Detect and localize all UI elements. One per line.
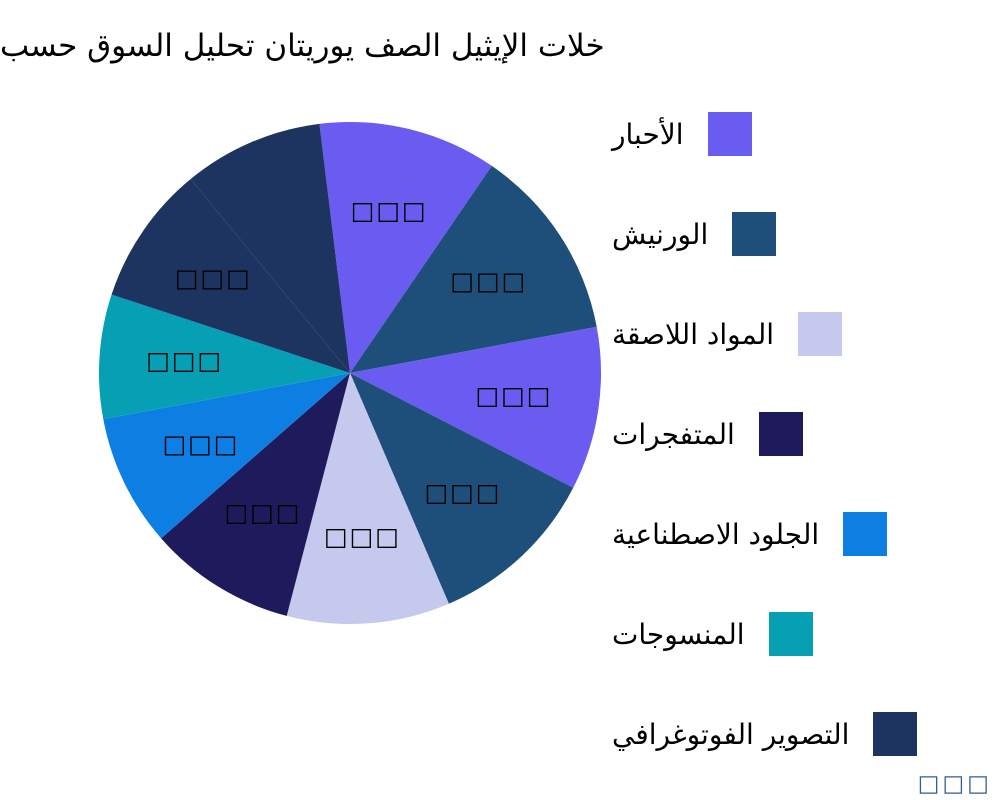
legend-item-label: المواد اللاصقة — [612, 318, 774, 351]
legend-color-swatch — [843, 512, 887, 556]
pie-chart-svg: □□□□□□□□□□□□□□□□□□□□□□□□□□□ — [99, 122, 601, 624]
legend: الأحبارالورنيشالمواد اللاصقةالمتفجراتالج… — [612, 112, 1000, 792]
page-title: خلات الإيثيل الصف يوريتان تحليل السوق حس… — [0, 0, 1000, 92]
legend-color-swatch — [759, 412, 803, 456]
pie-slice-label: □□□ — [175, 263, 252, 292]
pie-slice-label: □□□ — [425, 478, 502, 507]
pie-slice-label: □□□ — [351, 196, 428, 225]
pie-slice-label: □□□ — [450, 267, 527, 296]
legend-item-label: التصوير الفوتوغرافي — [612, 718, 849, 751]
pie-chart: □□□□□□□□□□□□□□□□□□□□□□□□□□□ — [99, 122, 601, 624]
legend-color-swatch — [769, 612, 813, 656]
legend-item-label: الجلود الاصطناعية — [612, 518, 819, 551]
legend-item-label: المتفجرات — [612, 418, 735, 451]
pie-slice-label: □□□ — [225, 498, 302, 527]
legend-item[interactable]: المتفجرات — [612, 412, 803, 456]
legend-item-label: المنسوجات — [612, 618, 745, 651]
legend-color-swatch — [873, 712, 917, 756]
legend-item[interactable]: الجلود الاصطناعية — [612, 512, 887, 556]
pie-slice-label: □□□ — [324, 522, 401, 551]
legend-item[interactable]: الورنيش — [612, 212, 776, 256]
legend-item[interactable]: المنسوجات — [612, 612, 813, 656]
legend-item[interactable]: الأحبار — [612, 112, 752, 156]
legend-item[interactable]: المواد اللاصقة — [612, 312, 842, 356]
legend-item-label: الأحبار — [612, 118, 684, 151]
legend-item[interactable]: التصوير الفوتوغرافي — [612, 712, 917, 756]
pie-slice-label: □□□ — [163, 429, 240, 458]
legend-color-swatch — [798, 312, 842, 356]
corner-placeholder-glyphs: □□□ — [918, 773, 992, 796]
pie-slice-label: □□□ — [146, 346, 223, 375]
legend-item-label: الورنيش — [612, 218, 708, 251]
pie-slice-label: □□□ — [475, 381, 552, 410]
legend-color-swatch — [732, 212, 776, 256]
legend-color-swatch — [708, 112, 752, 156]
